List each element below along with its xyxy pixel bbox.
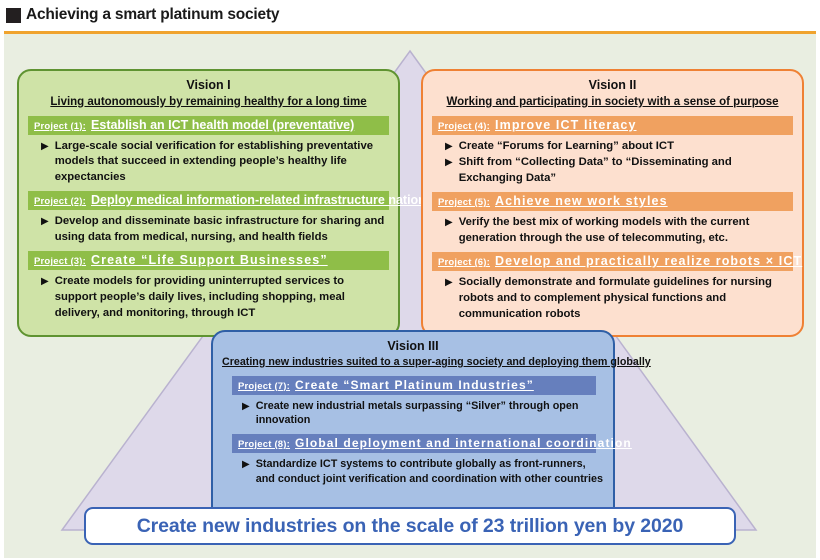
project-number: Project (6):: [438, 257, 490, 268]
bullet-item: ▶ Create new industrial metals surpassin…: [242, 399, 604, 429]
bullet-item: ▶ Create models for providing uninterrup…: [41, 274, 389, 321]
bullet-text: Create models for providing uninterrupte…: [55, 274, 389, 321]
vision-subtitle: Creating new industries suited to a supe…: [222, 356, 604, 370]
project-number: Project (5):: [438, 197, 490, 208]
bullet-item: ▶ Large-scale social verification for es…: [41, 139, 389, 186]
page-title: Achieving a smart platinum society: [26, 6, 279, 24]
project-number: Project (2):: [34, 196, 86, 207]
goal-banner: Create new industries on the scale of 23…: [84, 507, 736, 545]
project-bullets-3: ▶ Create models for providing uninterrup…: [28, 274, 389, 321]
project-name: Create “Smart Platinum Industries”: [295, 378, 534, 392]
slide-root: Achieving a smart platinum society Visio…: [0, 0, 820, 560]
project-bar-7[interactable]: Project (7): Create “Smart Platinum Indu…: [232, 376, 596, 395]
project-bullets-5: ▶ Verify the best mix of working models …: [432, 215, 793, 246]
bullet-text: Create new industrial metals surpassing …: [256, 399, 604, 429]
bullet-text: Large-scale social verification for esta…: [55, 139, 389, 186]
bullet-text: Shift from “Collecting Data” to “Dissemi…: [459, 155, 793, 186]
project-bar-5[interactable]: Project (5): Achieve new work styles: [432, 192, 793, 211]
project-number: Project (3):: [34, 256, 86, 267]
project-number: Project (8):: [238, 439, 290, 450]
bullet-text: Verify the best mix of working models wi…: [459, 215, 793, 246]
triangle-bullet-icon: ▶: [41, 274, 49, 290]
bullet-item: ▶ Develop and disseminate basic infrastr…: [41, 214, 389, 245]
project-name: Improve ICT literacy: [495, 118, 637, 132]
triangle-bullet-icon: ▶: [41, 214, 49, 230]
bullet-text: Develop and disseminate basic infrastruc…: [55, 214, 389, 245]
project-name: Global deployment and international coor…: [295, 436, 632, 450]
project-bullets-1: ▶ Large-scale social verification for es…: [28, 139, 389, 186]
project-bullets-4: ▶ Create “Forums for Learning” about ICT…: [432, 139, 793, 187]
vision-title: Vision I: [28, 78, 389, 94]
project-name: Create “Life Support Businesses”: [91, 253, 328, 267]
bullet-item: ▶ Standardize ICT systems to contribute …: [242, 457, 604, 487]
bullet-text: Socially demonstrate and formulate guide…: [459, 275, 793, 322]
triangle-bullet-icon: ▶: [445, 139, 453, 155]
bullet-text: Create “Forums for Learning” about ICT: [459, 139, 674, 155]
project-number: Project (7):: [238, 381, 290, 392]
project-bullets-7: ▶ Create new industrial metals surpassin…: [222, 399, 604, 429]
triangle-bullet-icon: ▶: [445, 275, 453, 291]
project-bar-4[interactable]: Project (4): Improve ICT literacy: [432, 116, 793, 135]
project-name: Establish an ICT health model (preventat…: [91, 118, 354, 132]
triangle-bullet-icon: ▶: [445, 155, 453, 171]
vision-box-1: Vision I Living autonomously by remainin…: [17, 69, 400, 337]
project-number: Project (4):: [438, 121, 490, 132]
diagram-canvas: Vision I Living autonomously by remainin…: [4, 31, 816, 558]
vision-box-2: Vision II Working and participating in s…: [421, 69, 804, 337]
project-bar-6[interactable]: Project (6): Develop and practically rea…: [432, 252, 793, 271]
project-name: Achieve new work styles: [495, 194, 668, 208]
bullet-item: ▶ Verify the best mix of working models …: [445, 215, 793, 246]
vision-box-3: Vision III Creating new industries suite…: [211, 330, 615, 530]
vision-subtitle: Working and participating in society wit…: [432, 95, 793, 110]
project-bar-3[interactable]: Project (3): Create “Life Support Busine…: [28, 251, 389, 270]
triangle-bullet-icon: ▶: [41, 139, 49, 155]
bullet-text: Standardize ICT systems to contribute gl…: [256, 457, 604, 487]
project-name: Develop and practically realize robots ×…: [495, 254, 802, 268]
project-bar-1[interactable]: Project (1): Establish an ICT health mod…: [28, 116, 389, 135]
project-name: Deploy medical information-related infra…: [91, 193, 454, 207]
black-square-icon: [6, 8, 21, 23]
slide-header: Achieving a smart platinum society: [0, 0, 820, 30]
vision-subtitle: Living autonomously by remaining healthy…: [28, 95, 389, 110]
triangle-bullet-icon: ▶: [445, 215, 453, 231]
bullet-item: ▶ Socially demonstrate and formulate gui…: [445, 275, 793, 322]
vision-title: Vision III: [222, 339, 604, 355]
triangle-bullet-icon: ▶: [242, 399, 250, 415]
project-bullets-8: ▶ Standardize ICT systems to contribute …: [222, 457, 604, 487]
bullet-item: ▶ Create “Forums for Learning” about ICT: [445, 139, 793, 155]
project-bullets-2: ▶ Develop and disseminate basic infrastr…: [28, 214, 389, 245]
bullet-item: ▶ Shift from “Collecting Data” to “Disse…: [445, 155, 793, 186]
goal-text: Create new industries on the scale of 23…: [137, 515, 684, 538]
vision-title: Vision II: [432, 78, 793, 94]
project-number: Project (1):: [34, 121, 86, 132]
project-bullets-6: ▶ Socially demonstrate and formulate gui…: [432, 275, 793, 322]
project-bar-2[interactable]: Project (2): Deploy medical information-…: [28, 191, 389, 210]
project-bar-8[interactable]: Project (8): Global deployment and inter…: [232, 434, 596, 453]
triangle-bullet-icon: ▶: [242, 457, 250, 473]
